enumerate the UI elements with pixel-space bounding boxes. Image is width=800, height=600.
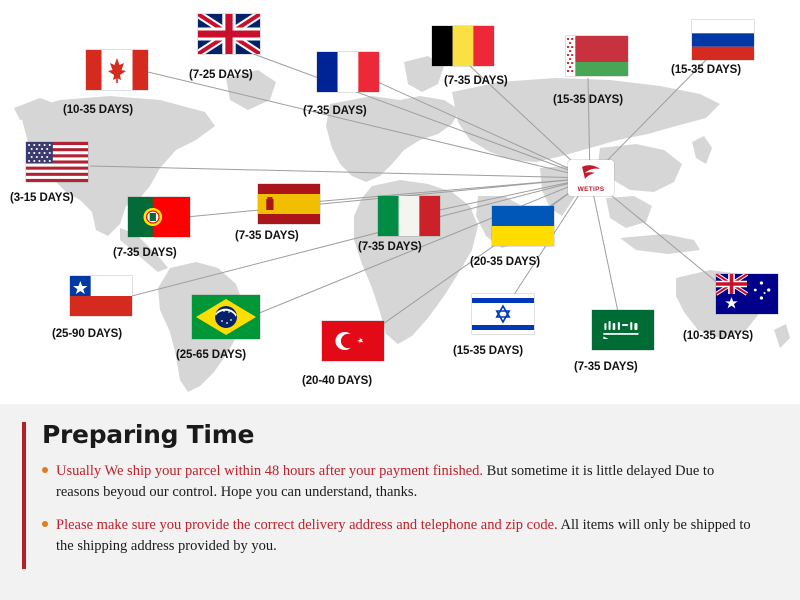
delivery-time-russia: (15-35 DAYS) bbox=[671, 64, 741, 76]
page-title: Preparing Time bbox=[42, 422, 778, 447]
flag-spain bbox=[258, 184, 320, 224]
flag-belarus bbox=[566, 36, 628, 76]
flag-united-kingdom bbox=[198, 14, 260, 54]
flag-brazil bbox=[192, 295, 260, 339]
flag-turkey bbox=[322, 321, 384, 361]
bullet-highlight: Usually We ship your parcel within 48 ho… bbox=[56, 463, 483, 479]
bullet-highlight: Please make sure you provide the correct… bbox=[56, 517, 558, 533]
flag-canada bbox=[86, 50, 148, 90]
delivery-time-italy: (7-35 DAYS) bbox=[358, 241, 422, 253]
delivery-time-united-kingdom: (7-25 DAYS) bbox=[189, 69, 253, 81]
bullet-dot-icon bbox=[42, 521, 48, 527]
bullet-text: Usually We ship your parcel within 48 ho… bbox=[56, 461, 756, 502]
delivery-time-spain: (7-35 DAYS) bbox=[235, 230, 299, 242]
delivery-time-australia: (10-35 DAYS) bbox=[683, 330, 753, 342]
wetips-logo-icon: WETIPS bbox=[568, 160, 614, 196]
logo-brand-text: WETIPS bbox=[578, 186, 605, 193]
delivery-time-canada: (10-35 DAYS) bbox=[63, 104, 133, 116]
panel-content: Preparing Time Usually We ship your parc… bbox=[22, 422, 778, 569]
delivery-time-israel: (15-35 DAYS) bbox=[453, 345, 523, 357]
bullet-text: Please make sure you provide the correct… bbox=[56, 515, 756, 556]
preparing-time-panel: Preparing Time Usually We ship your parc… bbox=[0, 404, 800, 600]
delivery-time-ukraine: (20-35 DAYS) bbox=[470, 256, 540, 268]
delivery-time-belgium: (7-35 DAYS) bbox=[444, 75, 508, 87]
bullet-dot-icon bbox=[42, 467, 48, 473]
delivery-time-portugal: (7-35 DAYS) bbox=[113, 247, 177, 259]
delivery-time-chile: (25-90 DAYS) bbox=[52, 328, 122, 340]
flag-italy bbox=[378, 196, 440, 236]
delivery-time-france: (7-35 DAYS) bbox=[303, 105, 367, 117]
flag-portugal bbox=[128, 197, 190, 237]
shipping-map: WETIPS (10-35 DAYS) (7-25 DAYS) (7-35 DA… bbox=[0, 0, 800, 404]
flag-saudi-arabia bbox=[592, 310, 654, 350]
flag-russia bbox=[692, 20, 754, 60]
logo-mark-icon bbox=[580, 164, 602, 185]
flag-belgium bbox=[432, 26, 494, 66]
delivery-time-brazil: (25-65 DAYS) bbox=[176, 349, 246, 361]
delivery-time-saudi-arabia: (7-35 DAYS) bbox=[574, 361, 638, 373]
flag-israel bbox=[472, 294, 534, 334]
flag-ukraine bbox=[492, 206, 554, 246]
delivery-time-belarus: (15-35 DAYS) bbox=[553, 94, 623, 106]
list-item: Please make sure you provide the correct… bbox=[42, 515, 778, 556]
delivery-time-turkey: (20-40 DAYS) bbox=[302, 375, 372, 387]
flag-chile bbox=[70, 276, 132, 316]
flag-australia bbox=[716, 274, 778, 314]
flag-france bbox=[317, 52, 379, 92]
flag-united-states bbox=[26, 142, 88, 182]
delivery-time-united-states: (3-15 DAYS) bbox=[10, 192, 74, 204]
list-item: Usually We ship your parcel within 48 ho… bbox=[42, 461, 778, 502]
